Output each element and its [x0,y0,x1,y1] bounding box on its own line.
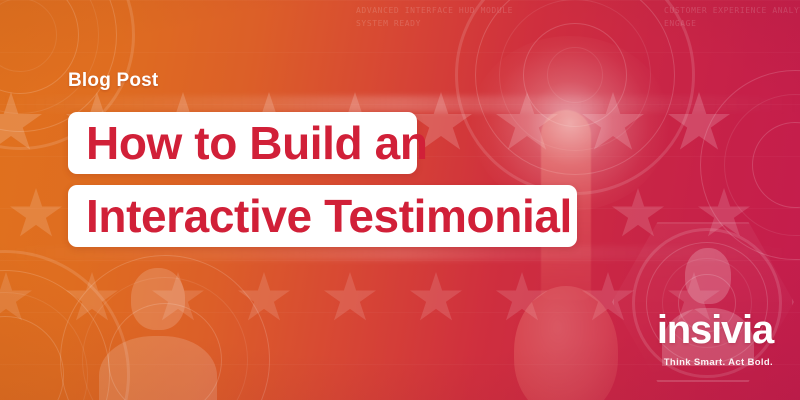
title-line-2-box: Interactive Testimonial [68,185,577,247]
title-line-2-text: Interactive Testimonial [86,193,572,239]
banner-content: Blog Post How to Build an Interactive Te… [0,0,800,400]
title-line-1-text: How to Build an [86,120,428,166]
blog-post-banner: ADVANCED INTERFACE HUD MODULE SYSTEM REA… [0,0,800,400]
title-line-1-box: How to Build an [68,112,417,174]
logo-wordmark: insivia [657,310,773,350]
logo-tagline: Think Smart. Act Bold. [657,357,773,368]
eyebrow-label: Blog Post [68,70,158,92]
insivia-logo: insivia Think Smart. Act Bold. [657,310,773,368]
